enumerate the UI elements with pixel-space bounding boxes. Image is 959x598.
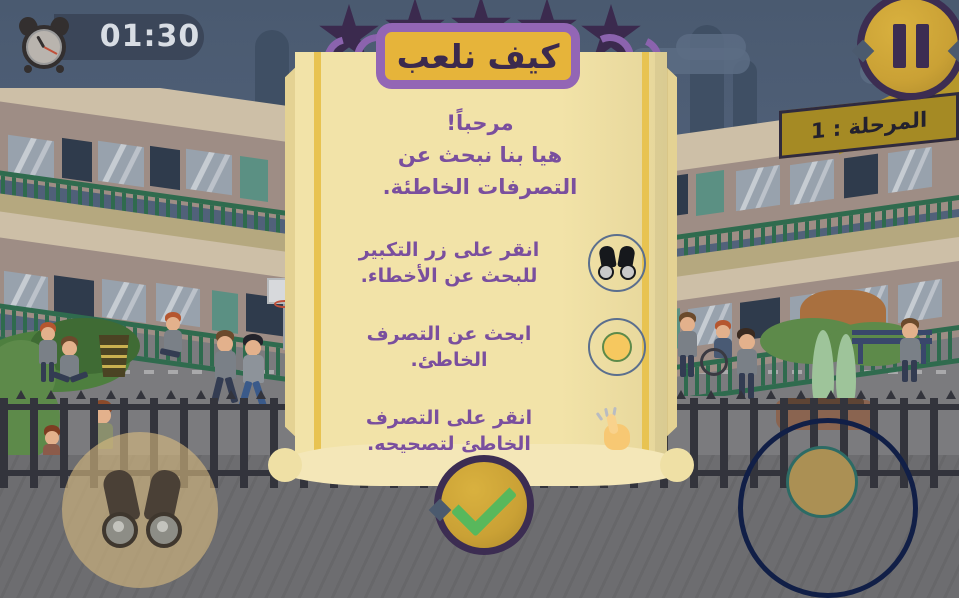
intro-text: مرحباً! هيا بنا نبحث عن التصرفات الخاطئة… <box>310 108 650 204</box>
binoculars-icon <box>102 470 182 548</box>
confirm-button[interactable] <box>434 455 534 555</box>
zoom-button[interactable] <box>62 432 218 588</box>
instruction-list: انقر على زر التكبير للبحث عن الأخطاء. اب… <box>312 228 652 480</box>
instruction-line-2: الخاطئ. <box>318 348 580 374</box>
instruction-text: ابحث عن التصرف الخاطئ. <box>312 322 580 373</box>
bench <box>852 330 932 364</box>
cloud <box>676 34 746 60</box>
page-title: كيف نلعب <box>397 40 560 73</box>
intro-line-2: التصرفات الخاطئة. <box>310 172 650 204</box>
wheelchair-wheel <box>700 348 728 376</box>
instruction-row: انقر على زر التكبير للبحث عن الأخطاء. <box>312 228 652 300</box>
level-label: المرحلة : 1 <box>811 107 927 143</box>
target-ring-button[interactable] <box>738 418 918 598</box>
instruction-text: انقر على التصرف الخاطئ لتصحيحه. <box>312 406 580 457</box>
alarm-clock-icon <box>16 15 72 71</box>
game-screen: 01:30 المرحلة : 1 <box>0 0 959 598</box>
instruction-line-2: للبحث عن الأخطاء. <box>318 264 580 290</box>
instruction-line-2: الخاطئ لتصحيحه. <box>318 432 580 458</box>
target-inner-circle <box>786 446 858 518</box>
panel-title-box: كيف نلعب <box>376 23 580 89</box>
instruction-text: انقر على زر التكبير للبحث عن الأخطاء. <box>312 238 580 289</box>
instruction-row: ابحث عن التصرف الخاطئ. <box>312 312 652 384</box>
pause-icon <box>893 24 929 68</box>
instruction-line-1: ابحث عن التصرف <box>318 322 580 348</box>
instruction-line-1: انقر على زر التكبير <box>318 238 580 264</box>
intro-line-1: هيا بنا نبحث عن <box>310 140 650 172</box>
instruction-line-1: انقر على التصرف <box>318 406 580 432</box>
timer-value: 01:30 <box>96 14 204 60</box>
greeting-line: مرحباً! <box>310 108 650 140</box>
tap-hand-icon <box>580 396 652 468</box>
binoculars-icon <box>580 228 652 300</box>
target-circle-icon <box>580 312 652 384</box>
pause-button[interactable] <box>857 0 959 100</box>
